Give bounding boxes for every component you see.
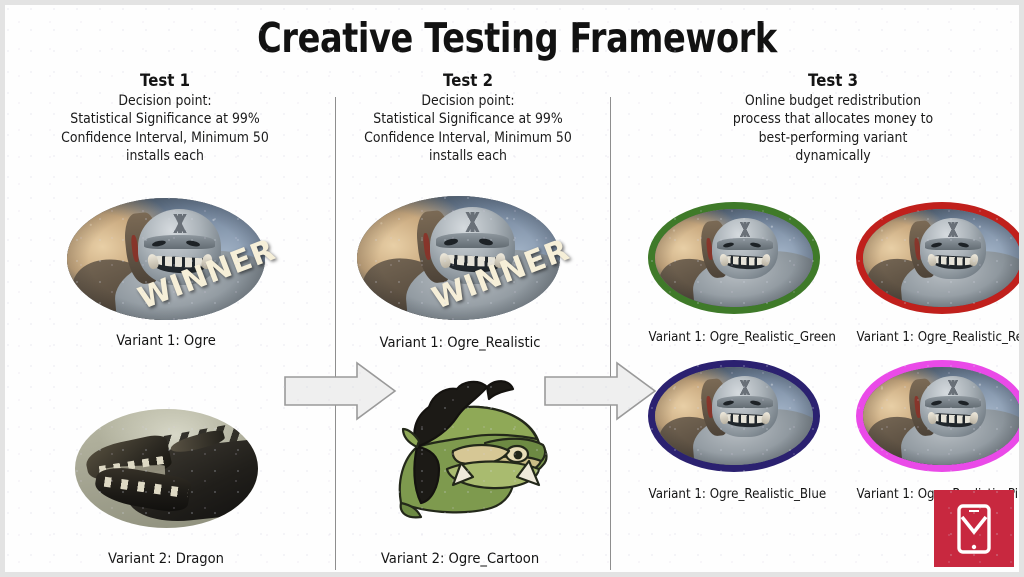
column-title-test-3: Test 3 <box>685 71 981 91</box>
ogre-artwork <box>863 209 1021 307</box>
smartphone-chevron-down-icon <box>957 504 991 554</box>
column-divider-2 <box>610 97 611 570</box>
ogre-artwork <box>863 367 1021 465</box>
ogre-artwork <box>357 196 560 320</box>
column-desc-line: best-performing variant <box>685 129 981 147</box>
column-desc-line: Decision point: <box>51 92 280 110</box>
column-desc-line: Statistical Significance at 99% <box>358 110 578 128</box>
column-header-test-1: Test 1 Decision point: Statistical Signi… <box>35 71 295 166</box>
variant-caption: Variant 1: Ogre_Realistic_Green <box>649 330 820 345</box>
page-title: Creative Testing Framework <box>97 14 937 62</box>
column-desc-line: Confidence Interval, Minimum 50 <box>358 129 578 147</box>
variant-caption: Variant 1: Ogre <box>76 332 256 349</box>
variant-image-dragon[interactable] <box>75 409 258 528</box>
column-desc-line: installs each <box>51 147 280 165</box>
ogre-artwork <box>655 209 813 307</box>
arrow-test2-to-test3 <box>543 360 658 422</box>
column-desc-line: process that allocates money to <box>685 110 981 128</box>
variant-image-ogre[interactable] <box>67 198 265 320</box>
variant-caption: Variant 1: Ogre_Realistic <box>370 334 550 351</box>
column-desc-line: Statistical Significance at 99% <box>51 110 280 128</box>
variant-image-ogre-realistic[interactable] <box>357 196 560 320</box>
column-desc-line: dynamically <box>685 147 981 165</box>
variant-image-ogre-realistic-green[interactable] <box>648 202 820 314</box>
column-desc-line: Decision point: <box>358 92 578 110</box>
column-desc-line: Confidence Interval, Minimum 50 <box>51 129 280 147</box>
variant-image-ogre-realistic-red[interactable] <box>856 202 1024 314</box>
variant-image-ogre-realistic-blue[interactable] <box>648 360 820 472</box>
column-header-test-2: Test 2 Decision point: Statistical Signi… <box>343 71 593 166</box>
slide-canvas: Creative Testing Framework Test 1 Decisi… <box>0 0 1024 577</box>
column-header-test-3: Test 3 Online budget redistribution proc… <box>665 71 1001 166</box>
column-title-test-1: Test 1 <box>51 71 280 91</box>
variant-caption: Variant 1: Ogre_Realistic_Red <box>857 330 1024 345</box>
variant-caption: Variant 2: Dragon <box>76 550 256 567</box>
column-desc-line: Online budget redistribution <box>685 92 981 110</box>
ogre-artwork <box>655 367 813 465</box>
ogre-artwork <box>67 198 265 320</box>
arrow-test1-to-test2 <box>283 360 398 422</box>
variant-caption: Variant 2: Ogre_Cartoon <box>370 550 550 567</box>
variant-caption: Variant 1: Ogre_Realistic_Blue <box>649 487 820 502</box>
column-title-test-2: Test 2 <box>358 71 578 91</box>
column-divider-1 <box>335 97 336 570</box>
dragon-artwork <box>75 409 258 528</box>
column-desc-line: installs each <box>358 147 578 165</box>
mobile-app-logo[interactable] <box>934 490 1014 567</box>
variant-image-ogre-realistic-pink[interactable] <box>856 360 1024 472</box>
